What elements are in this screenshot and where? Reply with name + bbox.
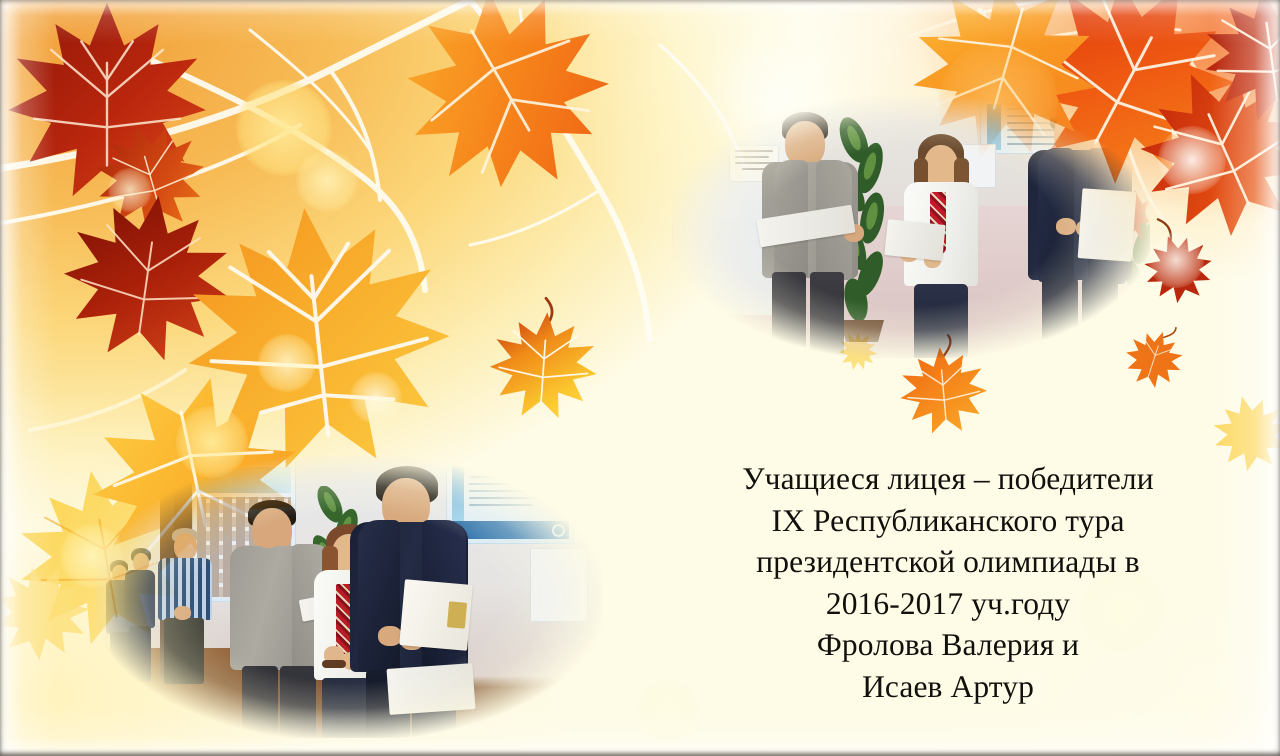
caption-line-5: Фролова Валерия и [646, 624, 1250, 666]
person-student-girl [896, 134, 990, 358]
person-presenter [754, 112, 874, 358]
caption-line-1: Учащиеся лицея – победители [646, 458, 1250, 500]
person-student-boy [348, 466, 472, 738]
person-background-adult [122, 548, 158, 682]
slide-caption: Учащиеся лицея – победители IX Республик… [646, 458, 1250, 707]
person-in-checked-shirt [154, 528, 216, 684]
person-student-boy [1024, 102, 1138, 358]
caption-line-3: президентской олимпиады в [646, 541, 1250, 583]
presentation-slide: Учащиеся лицея – победители IX Республик… [0, 0, 1280, 756]
raised-hand [256, 526, 280, 548]
caption-line-2: IX Республиканского тура [646, 500, 1250, 542]
caption-line-4: 2016-2017 уч.году [646, 583, 1250, 625]
certificate-document [884, 219, 945, 261]
award-ceremony-photo-content [672, 96, 1150, 358]
award-ceremony-photo [672, 96, 1150, 358]
certificate-document [1078, 188, 1137, 262]
paper-sheet [387, 663, 476, 715]
school-corridor-photo [96, 456, 602, 738]
caption-line-6: Исаев Артур [646, 666, 1250, 708]
school-corridor-photo-content [96, 456, 602, 738]
